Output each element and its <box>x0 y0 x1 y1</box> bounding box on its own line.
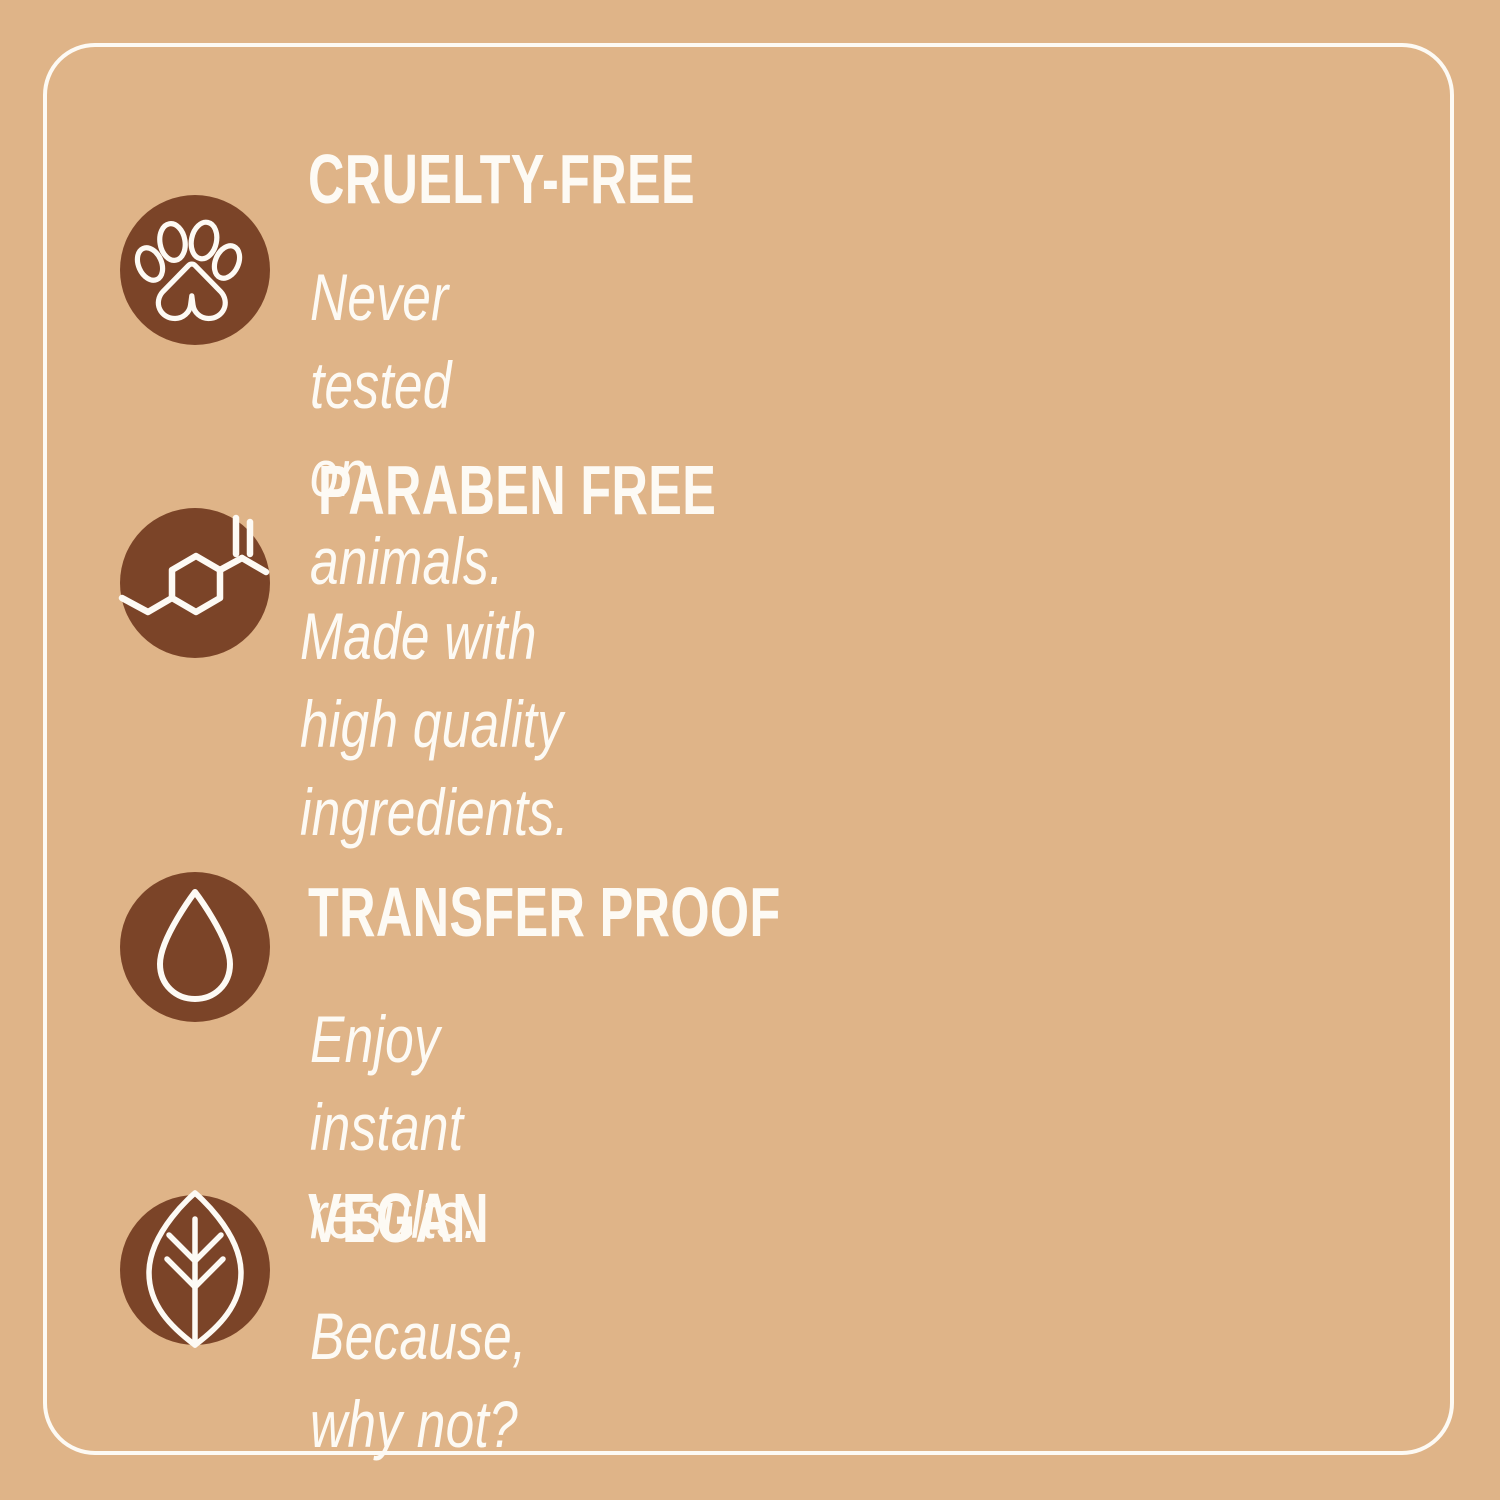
feature-list: CRUELTY-FREE Never tested on animals. <box>0 0 1500 1500</box>
feature-title: PARABEN FREE <box>318 455 716 525</box>
feature-description: Because, why not? <box>310 1292 527 1468</box>
leaf-icon <box>120 1195 270 1345</box>
feature-description: Made with high quality ingredients. <box>300 592 569 856</box>
feature-description: Never tested on animals. <box>310 253 504 605</box>
paw-print-icon <box>120 195 270 345</box>
water-droplet-icon <box>120 872 270 1022</box>
feature-title: TRANSFER PROOF <box>308 877 781 947</box>
molecule-icon <box>120 508 270 658</box>
feature-title: CRUELTY-FREE <box>308 144 695 214</box>
feature-title: VEGAN <box>308 1183 489 1253</box>
product-benefits-card: CRUELTY-FREE Never tested on animals. <box>0 0 1500 1500</box>
